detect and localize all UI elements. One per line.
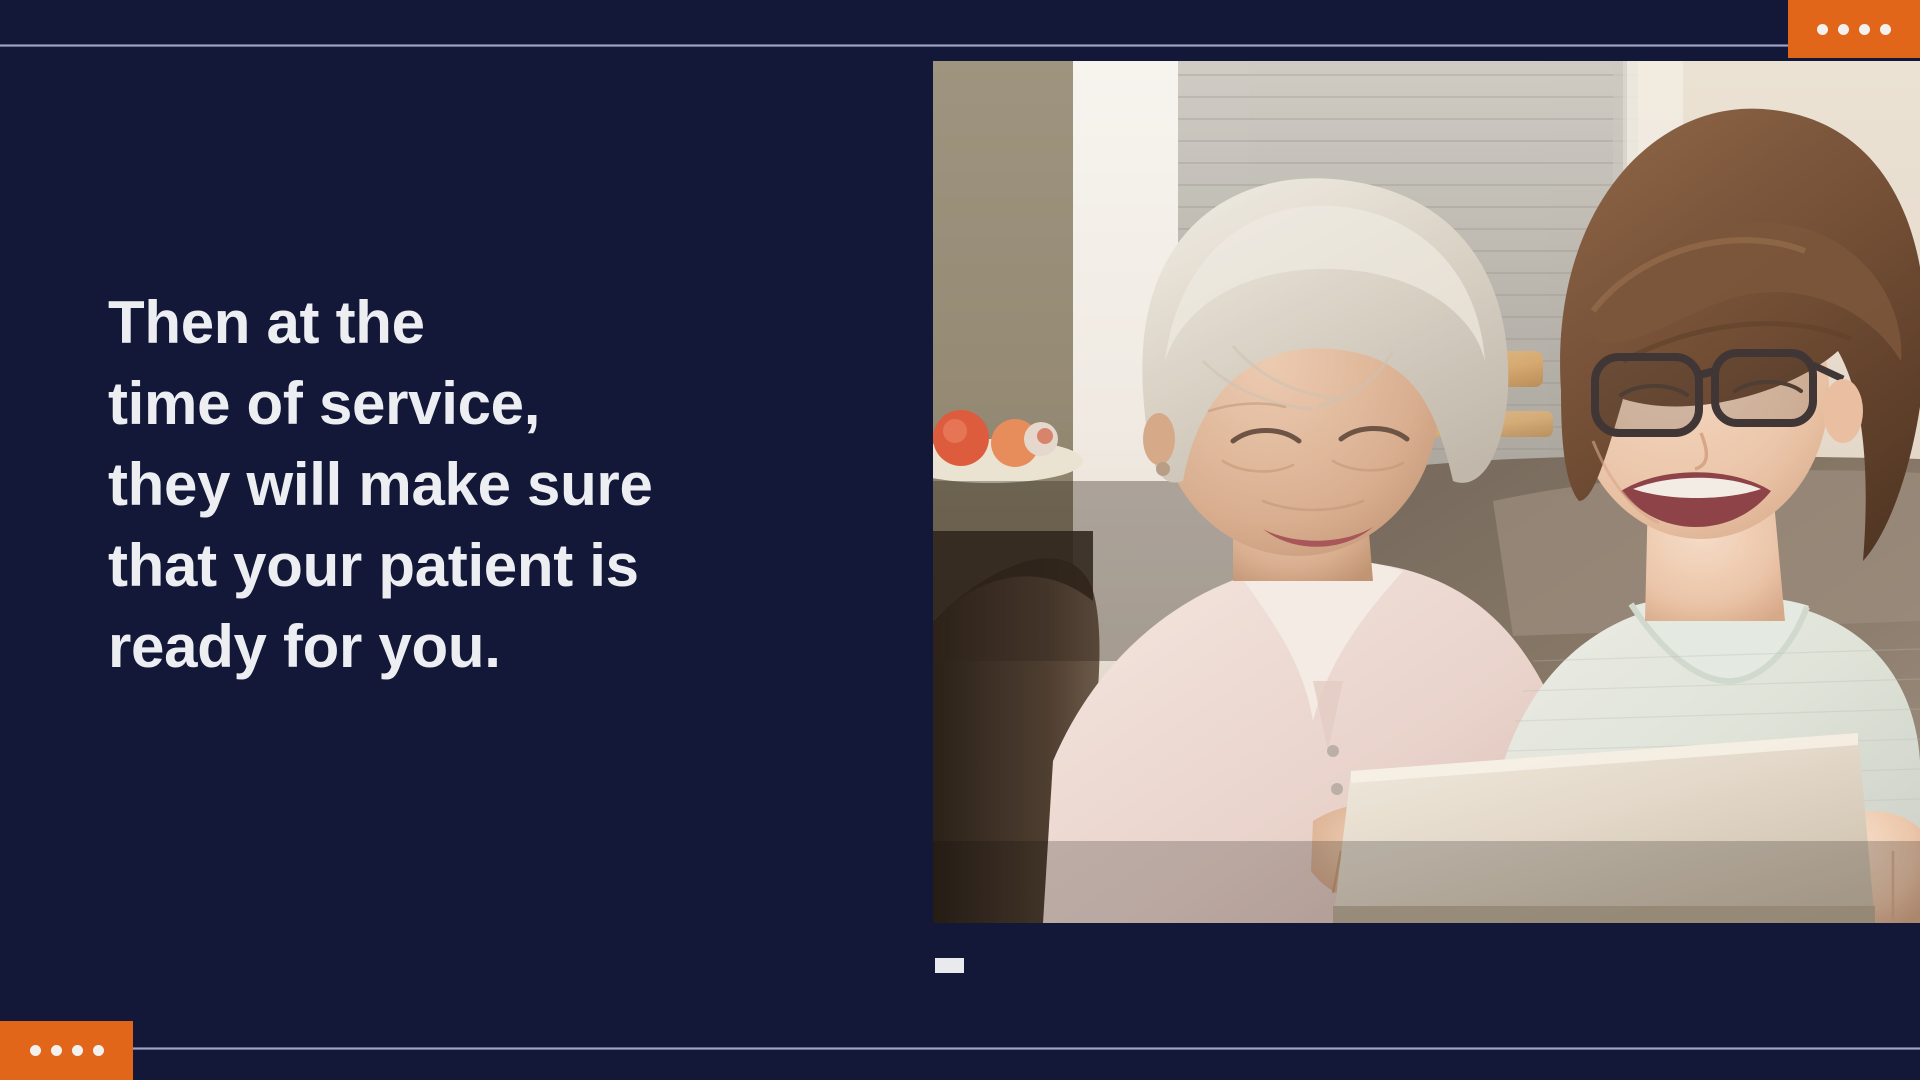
dot-icon bbox=[93, 1045, 104, 1056]
slide-headline: Then at the time of service, they will m… bbox=[108, 282, 868, 687]
dot-icon bbox=[1880, 24, 1891, 35]
dot-icon bbox=[51, 1045, 62, 1056]
top-divider bbox=[0, 44, 1920, 47]
menu-button-bottom-left[interactable] bbox=[0, 1021, 133, 1080]
slide-photo bbox=[933, 61, 1920, 923]
bottom-divider bbox=[0, 1047, 1920, 1050]
photo-illustration bbox=[933, 61, 1920, 923]
presentation-slide: Then at the time of service, they will m… bbox=[0, 0, 1920, 1080]
progress-marker[interactable] bbox=[935, 958, 964, 973]
menu-button-top-right[interactable] bbox=[1788, 0, 1920, 58]
dot-icon bbox=[72, 1045, 83, 1056]
dot-icon bbox=[30, 1045, 41, 1056]
dot-icon bbox=[1817, 24, 1828, 35]
dot-icon bbox=[1859, 24, 1870, 35]
dot-icon bbox=[1838, 24, 1849, 35]
